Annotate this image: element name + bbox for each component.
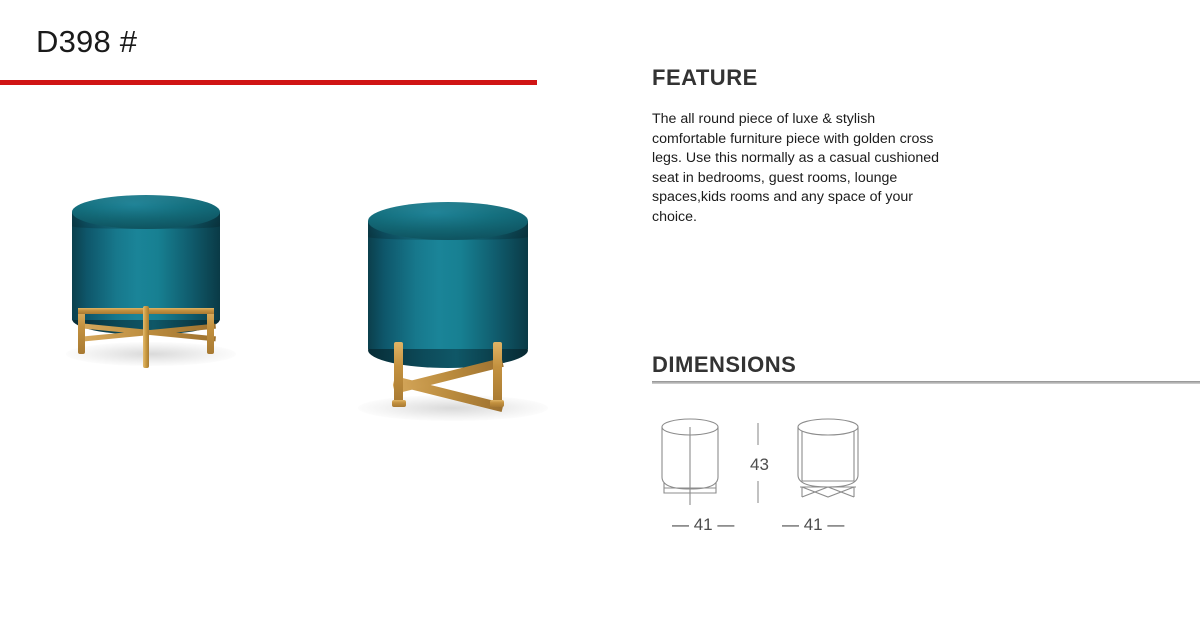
dimensions-heading: DIMENSIONS (652, 352, 796, 378)
dimension-width-label-side: — 41 — (672, 515, 734, 535)
title-divider-red (0, 80, 537, 85)
dimension-front-view (798, 419, 858, 497)
product-image-panel: D398 # (0, 0, 620, 630)
product-spec-sheet: D398 # (0, 0, 1200, 630)
dimensions-divider (652, 381, 1200, 384)
ottoman-b-seat-top (368, 202, 528, 240)
feature-heading: FEATURE (652, 65, 758, 91)
ottoman-a-seat-top (72, 195, 220, 229)
ottoman-a-center-post (143, 306, 149, 368)
page-title: D398 # (36, 24, 137, 60)
product-info-panel: FEATURE The all round piece of luxe & st… (620, 0, 1200, 630)
dimensions-diagram-group: — 41 — — 41 — 43 (650, 405, 900, 545)
feature-description: The all round piece of luxe & stylish co… (652, 110, 942, 227)
product-photo-stage (0, 110, 620, 450)
ottoman-b-body (368, 221, 528, 349)
ottoman-b-cross-legs (372, 342, 524, 420)
dimension-height-label: 43 (750, 455, 769, 475)
dimension-width-label-front: — 41 — (782, 515, 844, 535)
